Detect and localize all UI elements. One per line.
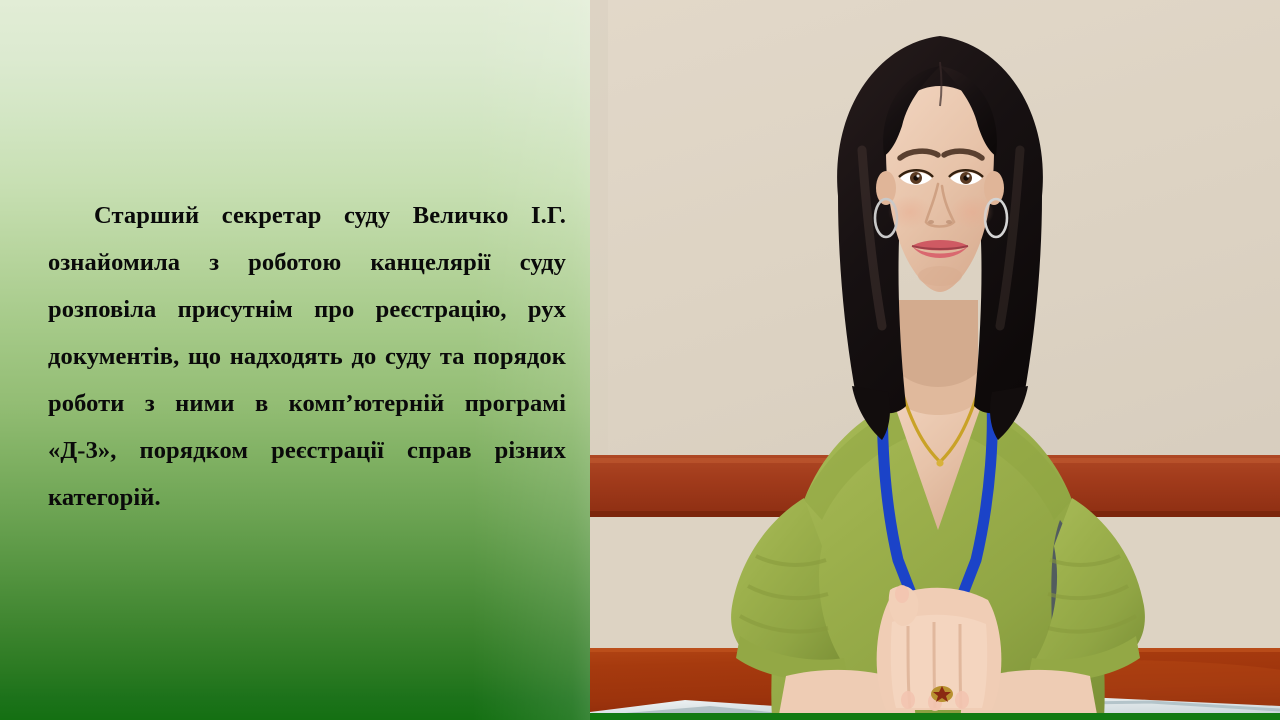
nail-1 (901, 691, 915, 709)
text-panel: Старший секретар суду Величко І.Г. ознай… (0, 0, 590, 720)
nostril-left (928, 220, 934, 224)
wall-seam (590, 0, 608, 455)
neck-shadow (898, 300, 978, 387)
presentation-slide: Старший секретар суду Величко І.Г. ознай… (0, 0, 1280, 720)
clasped-hands (877, 585, 1002, 711)
photo-illustration (590, 0, 1280, 720)
ring (931, 686, 953, 702)
nostril-right (946, 220, 952, 224)
nail-thumb (895, 585, 909, 603)
necklace-pendant (936, 459, 943, 466)
photograph (590, 0, 1280, 720)
nail-3 (955, 691, 969, 709)
chin-shade (918, 266, 962, 286)
bottom-accent-strip (590, 713, 1280, 720)
cheek-right (950, 195, 994, 229)
cheek-left (888, 195, 932, 229)
slide-body-text: Старший секретар суду Величко І.Г. ознай… (48, 192, 566, 521)
